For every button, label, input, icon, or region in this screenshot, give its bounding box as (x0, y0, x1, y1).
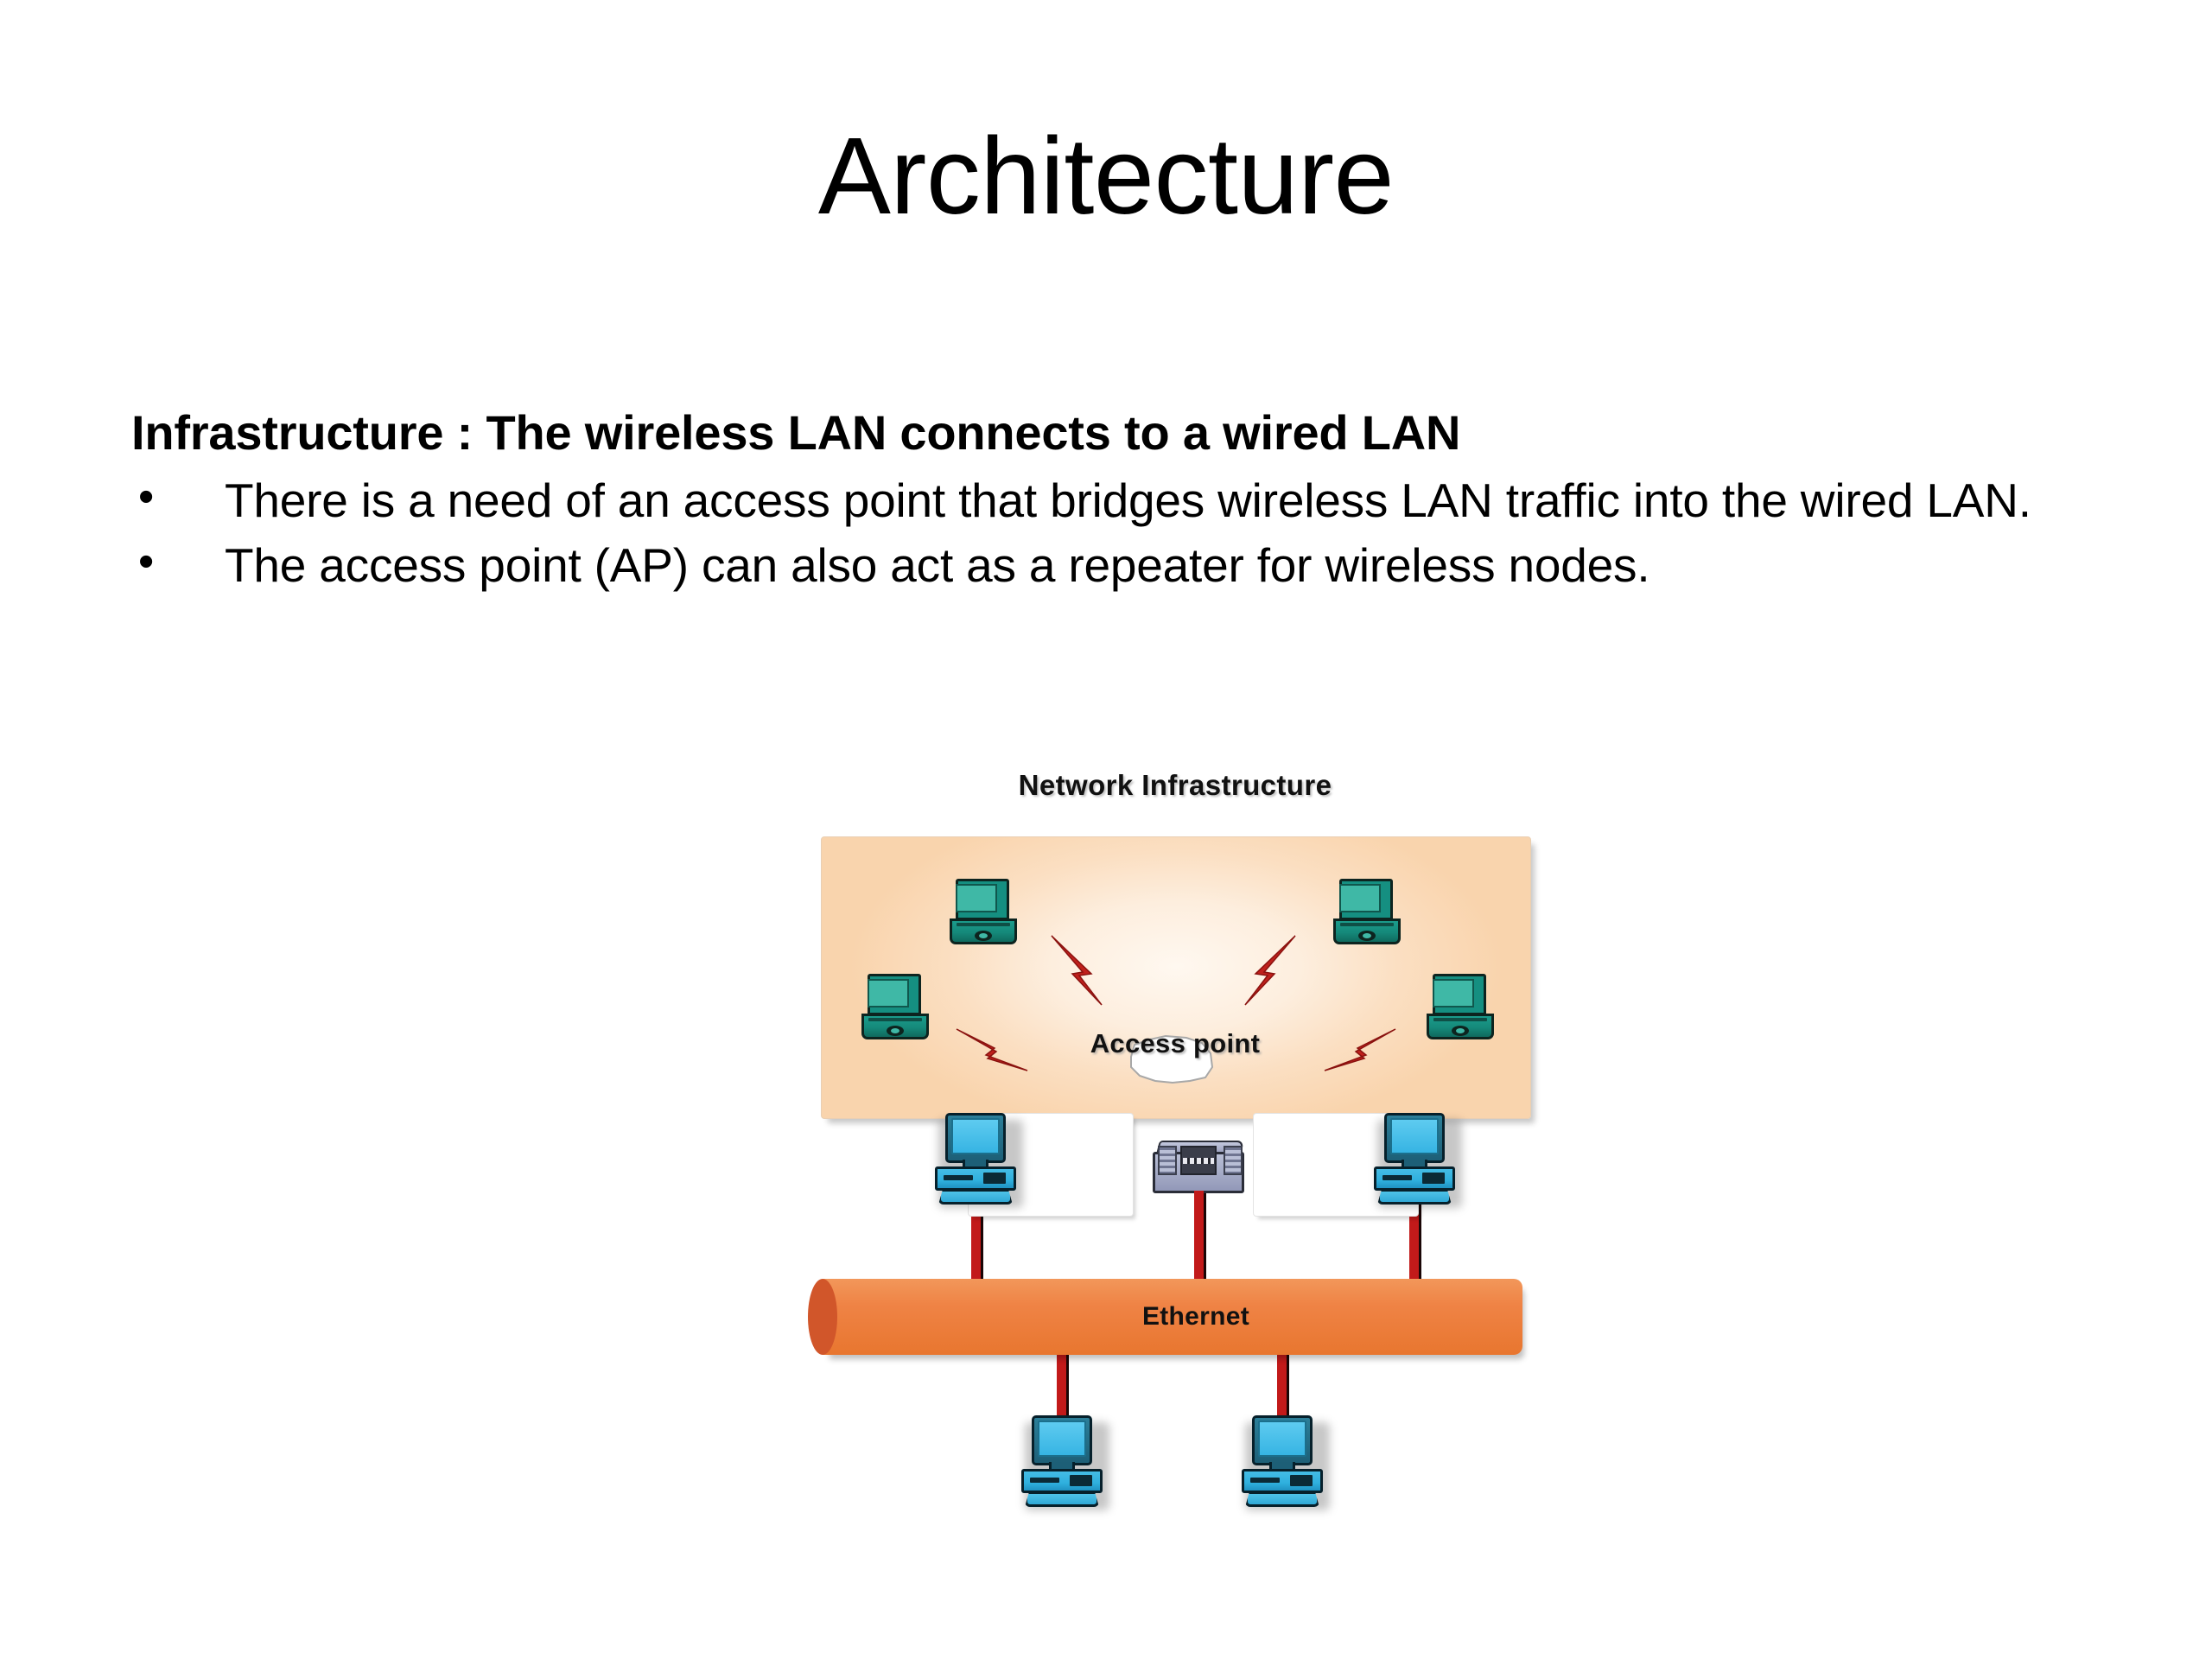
list-item-label: The access point (AP) can also act as a … (225, 538, 1649, 592)
desktop-computer-icon (1020, 1415, 1104, 1509)
desktop-computer-icon (933, 1113, 1018, 1206)
lightning-bolt-icon (1223, 931, 1302, 1010)
desktop-computer-icon (1372, 1113, 1457, 1206)
access-point-label: Access point (821, 1028, 1529, 1059)
lead-heading: Infrastructure : The wireless LAN connec… (131, 406, 2110, 461)
list-item: • There is a need of an access point tha… (131, 473, 2110, 529)
bullet-list: • There is a need of an access point tha… (131, 473, 2110, 594)
lightning-bolt-icon (1045, 931, 1124, 1010)
page-title: Architecture (0, 119, 2212, 233)
laptop-icon (950, 879, 1017, 946)
list-item: • The access point (AP) can also act as … (131, 537, 2110, 594)
list-item-label: There is a need of an access point that … (225, 474, 2031, 527)
access-point-device (1153, 1141, 1248, 1194)
slide-body: Infrastructure : The wireless LAN connec… (131, 406, 2110, 602)
network-infrastructure-diagram: Network Infrastructure (804, 769, 1547, 1555)
diagram-title: Network Infrastructure (804, 769, 1547, 802)
wireless-zone (821, 836, 1531, 1119)
bullet-marker-icon: • (138, 536, 154, 588)
desktop-computer-icon (1240, 1415, 1325, 1509)
ethernet-label: Ethernet (823, 1279, 1522, 1355)
laptop-icon (1333, 879, 1401, 946)
bullet-marker-icon: • (138, 471, 154, 524)
